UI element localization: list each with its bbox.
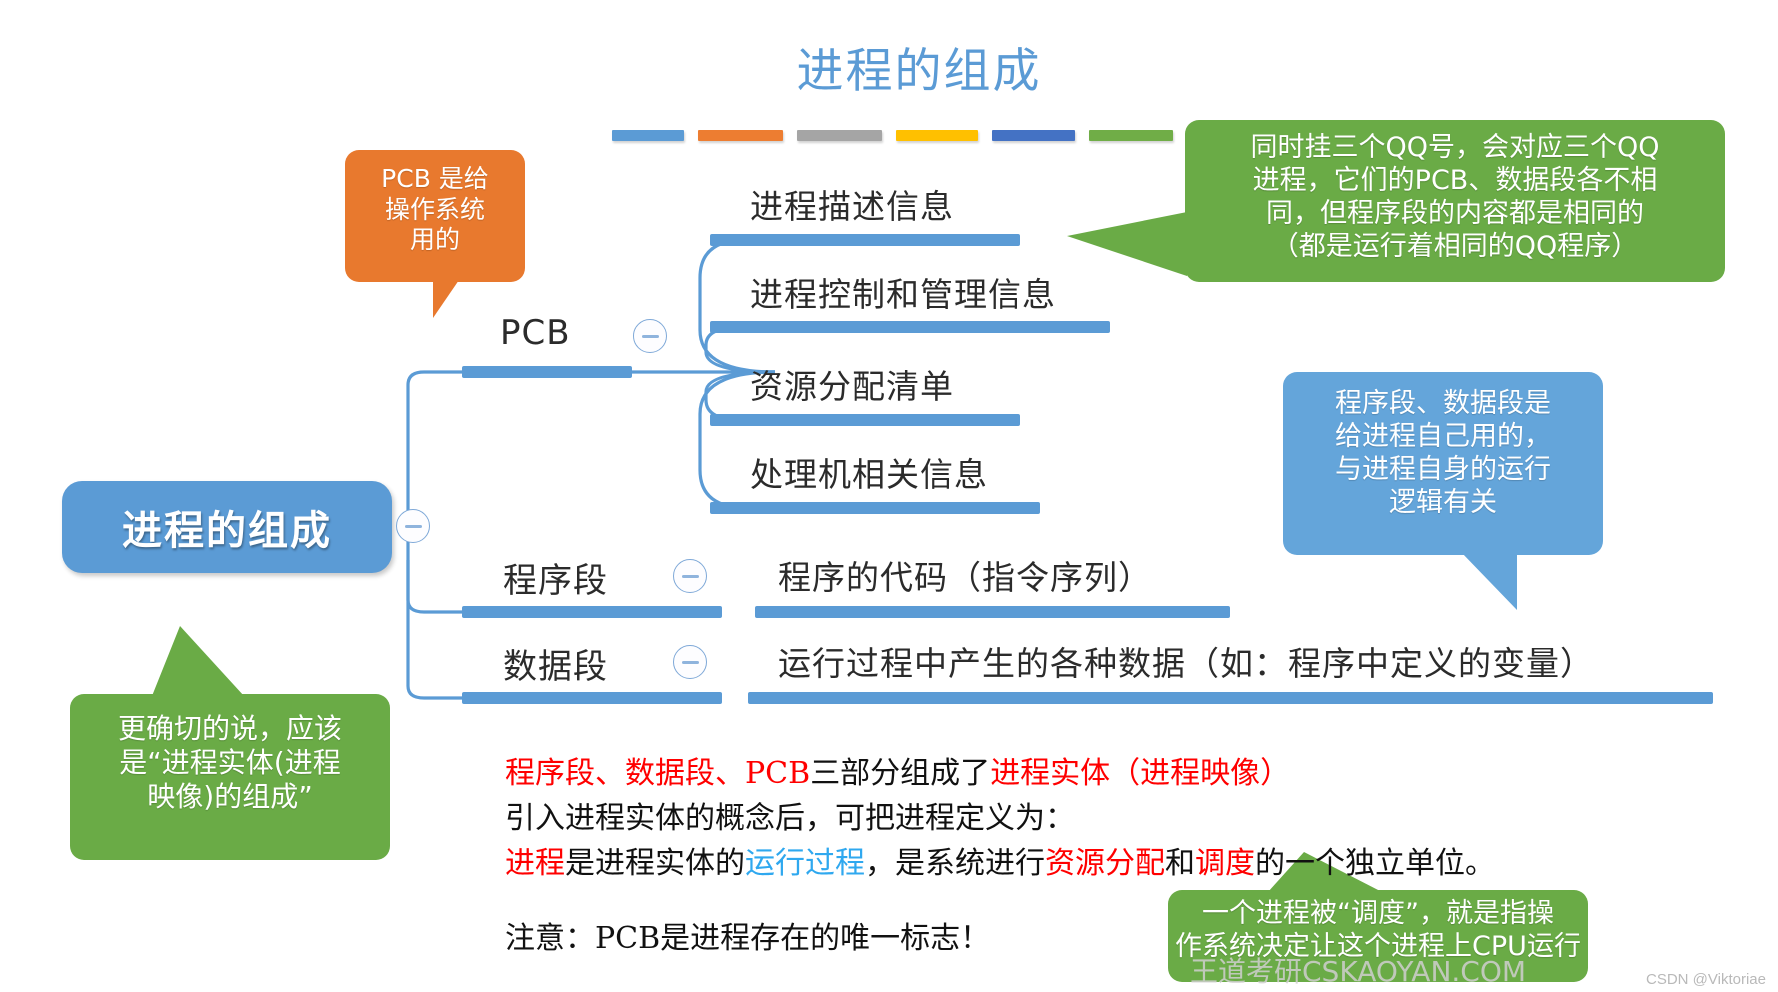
callout-segment-note-line-4: 逻辑有关 bbox=[1283, 487, 1603, 520]
callout-segment-note-line-3: 与进程自身的运行 bbox=[1283, 454, 1603, 487]
leaf-label-process-control[interactable]: 进程控制和管理信息 bbox=[750, 268, 1056, 316]
callout-qq-note: 同时挂三个QQ号，会对应三个QQ 进程，它们的PCB、数据段各不相 同，但程序段… bbox=[1185, 120, 1725, 282]
callout-segment-note-line-2: 给进程自己用的， bbox=[1283, 421, 1603, 454]
callout-pcb-note-tail bbox=[433, 280, 459, 318]
callout-qq-note-tail bbox=[1067, 212, 1187, 276]
body-line-2-seg-1: 引入进程实体的概念后，可把进程定义为： bbox=[505, 801, 1075, 836]
leaf-label-process-description[interactable]: 进程描述信息 bbox=[750, 180, 954, 228]
body-line-3-seg-2: 是进程实体的 bbox=[565, 846, 745, 881]
callout-entity-note-tail bbox=[152, 626, 244, 696]
watermark-csdn: CSDN @Viktoriae bbox=[1646, 971, 1766, 988]
root-collapse-toggle-icon[interactable] bbox=[396, 509, 430, 543]
branch-label-data-segment[interactable]: 数据段 bbox=[503, 639, 608, 688]
body-line-4-seg-1: 注意：PCB是进程存在的唯一标志！ bbox=[505, 921, 990, 956]
body-line-3-seg-3: 运行过程 bbox=[745, 846, 865, 881]
body-line-3-seg-7: 调度 bbox=[1195, 846, 1255, 881]
leaf-label-processor-info[interactable]: 处理机相关信息 bbox=[750, 448, 988, 496]
callout-segment-note: 程序段、数据段是 给进程自己用的， 与进程自身的运行 逻辑有关 bbox=[1283, 372, 1603, 555]
body-line-3-seg-6: 和 bbox=[1165, 846, 1195, 881]
body-line-3-seg-8: 的一个独立单位。 bbox=[1255, 846, 1495, 881]
mindmap-root-label: 进程的组成 bbox=[122, 498, 332, 556]
program-segment-collapse-toggle-icon[interactable] bbox=[673, 559, 707, 593]
callout-segment-note-line-1: 程序段、数据段是 bbox=[1283, 388, 1603, 421]
leaf-label-resource-list[interactable]: 资源分配清单 bbox=[750, 360, 954, 408]
callout-qq-note-line-1: 同时挂三个QQ号，会对应三个QQ bbox=[1185, 132, 1725, 165]
leaf-label-runtime-data[interactable]: 运行过程中产生的各种数据（如：程序中定义的变量） bbox=[778, 637, 1594, 685]
callout-pcb-note-line-2: 操作系统 bbox=[345, 195, 525, 226]
callout-entity-note-line-1: 更确切的说，应该 bbox=[70, 712, 390, 746]
callout-pcb-note: PCB 是给 操作系统 用的 bbox=[345, 150, 525, 282]
callout-pcb-note-line-3: 用的 bbox=[345, 225, 525, 256]
callout-entity-note: 更确切的说，应该 是“进程实体(进程 映像)的组成” bbox=[70, 694, 390, 860]
body-line-1-seg-2: 三部分组成了 bbox=[810, 756, 990, 791]
body-line-3: 进程是进程实体的运行过程，是系统进行资源分配和调度的一个独立单位。 bbox=[505, 838, 1495, 882]
callout-pcb-note-line-1: PCB 是给 bbox=[345, 164, 525, 195]
callout-qq-note-line-2: 进程，它们的PCB、数据段各不相 bbox=[1185, 165, 1725, 198]
body-line-1-seg-3: 进程实体（进程映像） bbox=[990, 756, 1290, 791]
branch-label-program-segment[interactable]: 程序段 bbox=[503, 553, 608, 602]
body-line-2: 引入进程实体的概念后，可把进程定义为： bbox=[505, 793, 1075, 837]
callout-qq-note-line-3: 同，但程序段的内容都是相同的 bbox=[1185, 198, 1725, 231]
leaf-label-program-code[interactable]: 程序的代码（指令序列） bbox=[778, 551, 1152, 599]
body-line-3-seg-4: ，是系统进行 bbox=[865, 846, 1045, 881]
body-line-4: 注意：PCB是进程存在的唯一标志！ bbox=[505, 913, 990, 957]
pcb-collapse-toggle-icon[interactable] bbox=[633, 319, 667, 353]
watermark-brand: 王道考研CSKAOYAN.COM bbox=[1190, 950, 1526, 990]
body-line-3-seg-1: 进程 bbox=[505, 846, 565, 881]
callout-entity-note-line-3: 映像)的组成” bbox=[70, 780, 390, 814]
data-segment-collapse-toggle-icon[interactable] bbox=[673, 645, 707, 679]
body-line-1: 程序段、数据段、PCB三部分组成了进程实体（进程映像） bbox=[505, 748, 1290, 792]
callout-qq-note-line-4: （都是运行着相同的QQ程序） bbox=[1185, 231, 1725, 264]
callout-schedule-note-line-1: 一个进程被“调度”，就是指操 bbox=[1168, 898, 1588, 931]
branch-label-pcb[interactable]: PCB bbox=[500, 313, 571, 353]
callout-entity-note-line-2: 是“进程实体(进程 bbox=[70, 746, 390, 780]
mindmap-root-node[interactable]: 进程的组成 bbox=[62, 481, 392, 573]
callout-segment-note-tail bbox=[1443, 552, 1517, 610]
slide-canvas: 进程的组成 bbox=[0, 0, 1778, 992]
body-line-3-seg-5: 资源分配 bbox=[1045, 846, 1165, 881]
body-line-1-seg-1: 程序段、数据段、PCB bbox=[505, 756, 810, 791]
